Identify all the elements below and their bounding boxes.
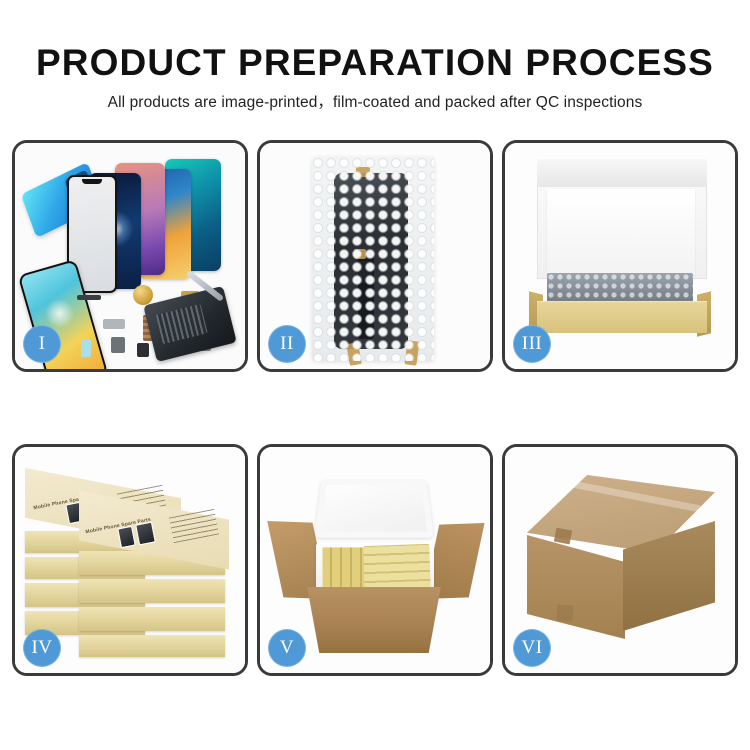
foam-box-lid	[314, 480, 434, 538]
panel-step-4[interactable]: Mobile Phone Spare Parts Mobile Phone Sp…	[12, 444, 248, 676]
white-label-patch	[358, 261, 372, 283]
step-badge-3: III	[513, 325, 551, 363]
carton-tape-lower	[556, 604, 573, 621]
process-steps-grid: I II	[12, 140, 738, 676]
flex-cable-strip	[358, 253, 374, 339]
packed-yellow-boxes-row2	[363, 544, 430, 590]
carton-tape-upper	[554, 528, 572, 545]
gold-component-icon	[133, 285, 153, 305]
page-title: PRODUCT PREPARATION PROCESS	[0, 0, 750, 84]
stacked-box-side	[79, 635, 225, 657]
component-part	[77, 295, 101, 300]
stacked-box-side	[79, 607, 225, 631]
component-part	[81, 339, 91, 357]
panel-step-5[interactable]: V	[257, 444, 493, 676]
panel-step-1[interactable]: I	[12, 140, 248, 372]
wrapped-screen-assembly	[334, 173, 408, 349]
page-subtitle: All products are image-printed，film-coat…	[0, 84, 750, 113]
panel-step-2[interactable]: II	[257, 140, 493, 372]
step-badge-2: II	[268, 325, 306, 363]
box-lid-flap	[537, 159, 707, 187]
tape-piece	[404, 340, 419, 365]
product-preparation-infographic: PRODUCT PREPARATION PROCESS All products…	[0, 0, 750, 750]
tape-piece	[354, 249, 366, 259]
bubble-wrap-bag	[312, 157, 434, 361]
panel-step-3[interactable]: III	[502, 140, 738, 372]
component-part	[103, 319, 125, 329]
header: PRODUCT PREPARATION PROCESS All products…	[0, 0, 750, 113]
stacked-box-side	[79, 579, 225, 603]
step-badge-4: IV	[23, 629, 61, 667]
foam-sheet	[547, 189, 695, 275]
tape-piece	[356, 167, 370, 177]
carton-body	[298, 587, 450, 653]
panel-step-6[interactable]: VI	[502, 444, 738, 676]
component-part	[111, 337, 125, 353]
step-badge-5: V	[268, 629, 306, 667]
step-badge-6: VI	[513, 629, 551, 667]
carton-left-face	[527, 535, 625, 639]
tape-piece	[346, 342, 362, 366]
step-badge-1: I	[23, 325, 61, 363]
box-front-panel	[537, 301, 707, 333]
component-part	[137, 343, 149, 357]
